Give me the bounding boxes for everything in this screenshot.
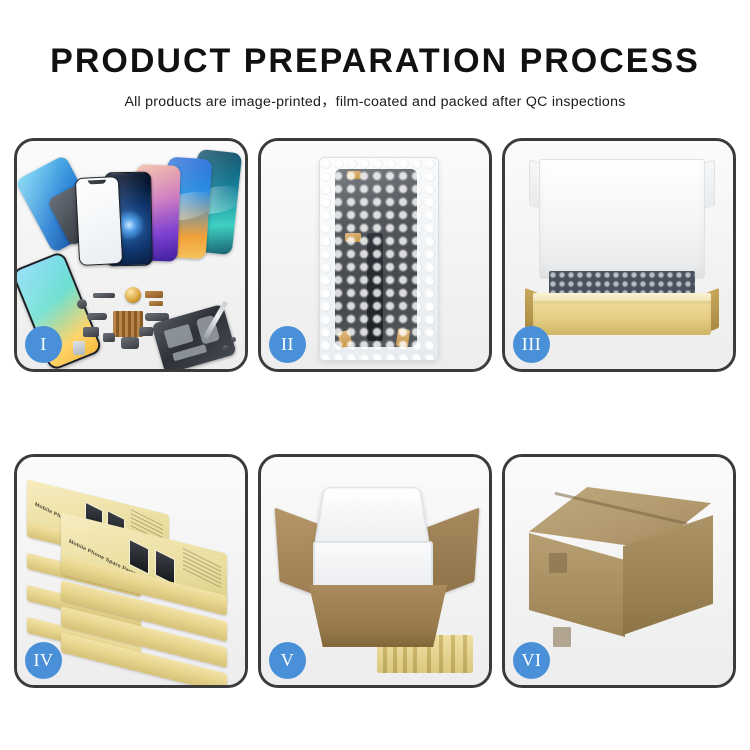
box-front-kraft xyxy=(533,301,711,335)
step-badge-4: IV xyxy=(25,642,62,679)
phone-screen-glass xyxy=(75,176,124,266)
foam-box-lid xyxy=(314,487,431,547)
process-step-3[interactable]: III xyxy=(502,138,736,372)
header: PRODUCT PREPARATION PROCESS All products… xyxy=(0,0,750,111)
step-badge-1: I xyxy=(25,326,62,363)
tape-piece-top xyxy=(347,171,361,179)
box-lid-white xyxy=(539,159,705,279)
process-step-4[interactable]: Mobile Phone Spare Parts Mobile Phone Sp… xyxy=(14,454,248,688)
page-title: PRODUCT PREPARATION PROCESS xyxy=(0,44,750,78)
component-flex-3 xyxy=(103,333,115,342)
shipping-carton-left-face xyxy=(529,533,625,637)
component-screw-1 xyxy=(223,345,228,350)
screen-flex-cable xyxy=(367,233,383,341)
component-connector-2 xyxy=(149,301,163,306)
component-coin xyxy=(125,287,141,303)
tape-piece-right xyxy=(396,328,410,347)
step-badge-5: V xyxy=(269,642,306,679)
step-badge-3: III xyxy=(513,326,550,363)
component-strip-1 xyxy=(93,293,115,298)
component-connector-1 xyxy=(145,291,163,298)
process-step-5[interactable]: V xyxy=(258,454,492,688)
component-flex-1 xyxy=(87,313,107,320)
component-flex-4 xyxy=(121,337,139,349)
carton-body xyxy=(309,585,447,647)
carton-tape-lower xyxy=(553,627,571,647)
infographic-page: PRODUCT PREPARATION PROCESS All products… xyxy=(0,0,750,750)
component-camera xyxy=(77,299,87,309)
page-subtitle: All products are image-printed，film-coat… xyxy=(0,91,750,111)
carton-tape-upper xyxy=(549,553,567,573)
component-screw-2 xyxy=(231,337,236,342)
retail-box-stack: Mobile Phone Spare Parts Mobile Phone Sp… xyxy=(27,475,239,673)
process-grid: I II xyxy=(14,138,736,688)
process-step-6[interactable]: VI xyxy=(502,454,736,688)
component-flex-6 xyxy=(139,327,153,336)
step-badge-6: VI xyxy=(513,642,550,679)
tape-piece-mid xyxy=(345,233,361,242)
process-step-2[interactable]: II xyxy=(258,138,492,372)
component-speaker xyxy=(73,341,85,355)
step-badge-2: II xyxy=(269,326,306,363)
component-flex-2 xyxy=(83,327,99,337)
process-step-1[interactable]: I xyxy=(14,138,248,372)
box-text-block-front xyxy=(183,548,221,591)
